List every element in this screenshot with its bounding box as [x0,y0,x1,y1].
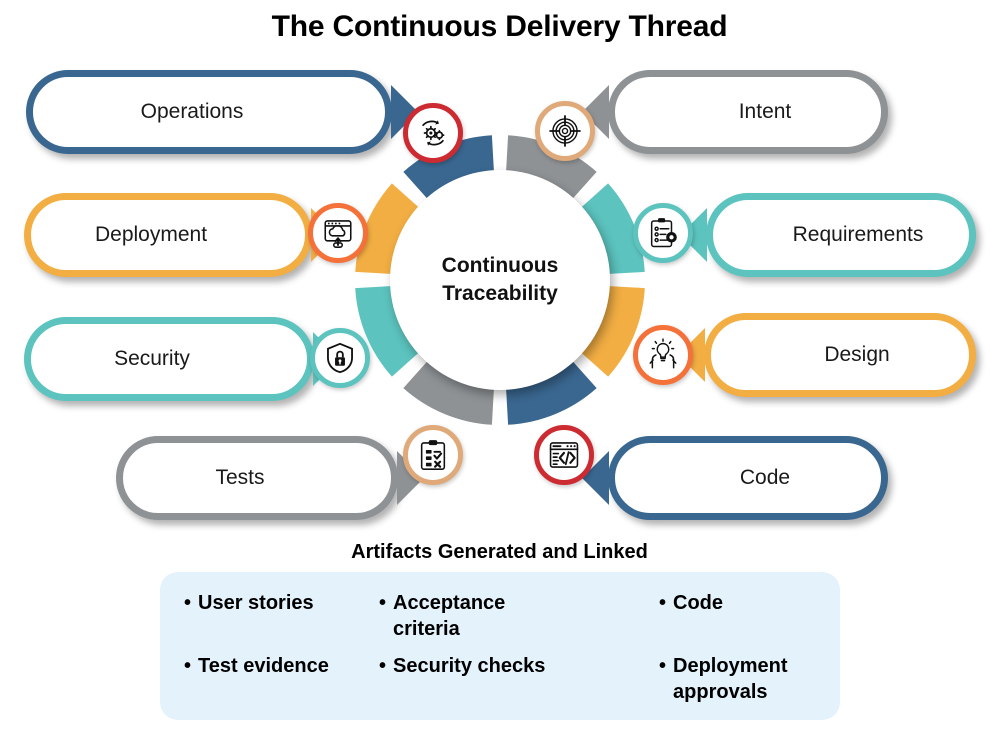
artifact-item: •Test evidence [184,653,379,706]
page-title: The Continuous Delivery Thread [0,10,999,44]
hub-continuous-traceability: Continuous Traceability [390,170,610,390]
hub-line-1: Continuous [442,252,559,280]
stage-label: Operations [141,100,244,124]
bullet-icon: • [659,590,666,616]
stage-label: Requirements [793,223,924,247]
artifact-item: •Deployment approvals [659,653,820,706]
cloud-upload-window-icon[interactable] [308,203,368,263]
stage-label: Code [740,466,790,490]
shield-lock-icon[interactable] [310,328,370,388]
artifacts-panel: •User stories •Acceptance criteria •Code… [160,572,840,720]
stage-pill-design[interactable]: Design [704,313,976,397]
stage-pill-requirements[interactable]: Requirements [706,193,976,277]
stage-label: Deployment [95,223,207,247]
artifact-label: Code [673,590,723,616]
target-rings-icon[interactable] [535,101,595,161]
artifact-label: Security checks [393,653,545,679]
stage-label: Intent [739,100,792,124]
bullet-icon: • [184,590,191,616]
lightbulb-hands-icon[interactable] [633,325,693,385]
stage-pill-intent[interactable]: Intent [608,70,888,154]
code-window-icon[interactable] [534,425,594,485]
stage-pill-deployment[interactable]: Deployment [24,193,312,277]
stage-label: Tests [215,466,264,490]
artifact-label: Acceptance criteria [393,590,558,643]
artifact-label: Deployment approvals [673,653,820,706]
hub-line-2: Traceability [442,280,558,308]
bullet-icon: • [184,653,191,679]
artifact-item: •Acceptance criteria [379,590,659,643]
artifact-item: •Security checks [379,653,659,706]
bullet-icon: • [659,653,666,679]
clipboard-check-x-icon[interactable] [403,425,463,485]
clipboard-gear-icon[interactable] [633,203,693,263]
artifacts-heading: Artifacts Generated and Linked [0,541,999,564]
artifact-item: •User stories [184,590,379,643]
bullet-icon: • [379,590,386,616]
stage-pill-security[interactable]: Security [24,317,314,401]
stage-pill-code[interactable]: Code [608,436,888,520]
diagram-canvas: The Continuous Delivery Thread Continuou… [0,0,999,734]
stage-pill-operations[interactable]: Operations [26,70,392,154]
artifact-label: User stories [198,590,314,616]
gears-refresh-icon[interactable] [403,103,463,163]
stage-pill-tests[interactable]: Tests [116,436,398,520]
stage-label: Security [114,347,190,371]
bullet-icon: • [379,653,386,679]
stage-label: Design [824,343,889,367]
artifact-item: •Code [659,590,820,643]
artifact-label: Test evidence [198,653,329,679]
